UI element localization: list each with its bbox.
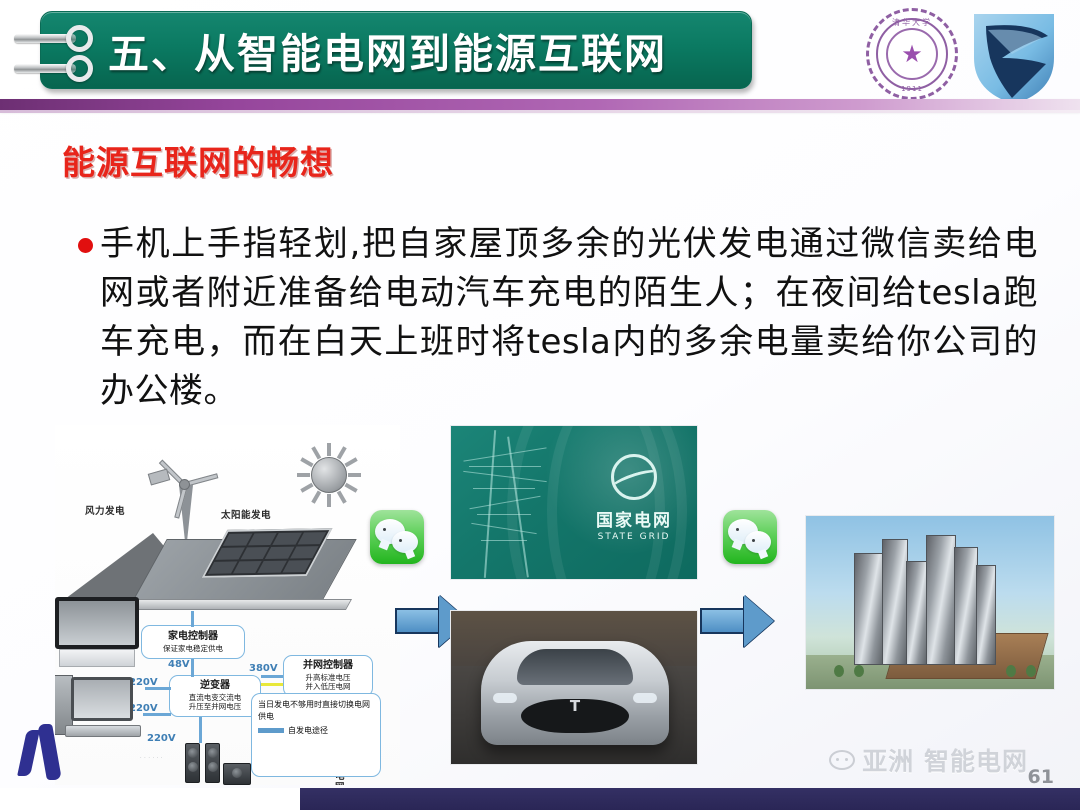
bullet-dot-icon (78, 238, 93, 253)
asia-smart-grid-logo-icon (22, 724, 68, 780)
bullet-block: 手机上手指轻划,把自家屋顶多余的光伏发电通过微信卖给电网或者附近准备给电动汽车充… (78, 220, 1038, 416)
tv-stand-icon (59, 649, 135, 667)
line-inverter-to-pc (143, 713, 171, 716)
schematic-legend: 当日发电不够用时直接切换电网供电 自发电途径 (251, 693, 381, 777)
line-inverter-to-gridtie (261, 675, 283, 678)
transmission-tower-icon (463, 430, 547, 578)
page-number: 61 (1028, 766, 1054, 788)
voltage-220v-audio: 220V (147, 733, 176, 744)
box-inverter: 逆变器 直流电变交流电 升压至并网电压 (169, 675, 261, 717)
tsinghua-university-seal-icon: 清华大学 ★ 1911 (866, 8, 958, 100)
slide-header: 五、从智能电网到能源互联网 清华大学 ★ 1911 (0, 0, 1080, 118)
wechat-icon-right (723, 510, 777, 564)
line-inverter-to-tv (145, 687, 171, 690)
line-controller-to-inverter (191, 659, 194, 677)
voltage-380v: 380V (249, 663, 278, 674)
footer-bar (0, 788, 1080, 810)
legend-blue-text: 自发电途径 (288, 725, 328, 737)
line-roof-to-controller (191, 611, 194, 627)
page-title: 五、从智能电网到能源互联网 (108, 11, 748, 89)
speaker-right-icon (205, 743, 220, 783)
blue-shield-logo-icon (968, 6, 1060, 106)
watermark-bubble-left-icon (829, 750, 855, 770)
pc-monitor-icon (71, 677, 133, 721)
figure-row: 风力发电 太阳能发电 家电控制器 保证家电稳定供电 逆变器 直流电变交流电 升压… (0, 415, 1080, 785)
television-icon (55, 597, 139, 649)
state-grid-orb-icon (611, 454, 657, 500)
seal-year-text: 1911 (866, 85, 958, 93)
binder-ring-bottom-icon (14, 55, 96, 82)
pc-keyboard-icon (65, 725, 141, 737)
box-appliance-controller: 家电控制器 保证家电稳定供电 (141, 625, 245, 659)
watermark: 亚洲 智能电网 (829, 742, 1028, 778)
seal-star-icon: ★ (901, 42, 923, 66)
box-grid-tie-controller: 并网控制器 升高标准电压 并入低压电网 (283, 655, 373, 697)
tesla-car-icon: T (481, 641, 669, 745)
subwoofer-icon (223, 763, 251, 785)
state-grid-photo: 国家电网 STATE GRID (450, 425, 698, 580)
section-subheading: 能源互联网的畅想 (62, 136, 334, 184)
schematic-caption: · · · · · · (140, 755, 163, 761)
flow-arrow-2-icon (700, 595, 778, 647)
slide-root: 五、从智能电网到能源互联网 清华大学 ★ 1911 能源互联网的畅想 (0, 0, 1080, 810)
binder-ring-top-icon (14, 25, 96, 52)
legend-blue-swatch (258, 728, 284, 733)
legend-yellow-text: 当日发电不够用时直接切换电网供电 (258, 699, 376, 722)
voltage-48v: 48V (168, 659, 190, 670)
bullet-paragraph: 手机上手指轻划,把自家屋顶多余的光伏发电通过微信卖给电网或者附近准备给电动汽车充… (100, 220, 1038, 416)
state-grid-logo: 国家电网 STATE GRID (591, 454, 677, 554)
seal-cn-text: 清华大学 (866, 17, 958, 28)
tesla-model-s-photo: T (450, 610, 698, 765)
wechat-icon-left (370, 510, 424, 564)
state-grid-cn: 国家电网 (591, 506, 677, 531)
header-accent-rule (0, 99, 1080, 110)
line-gridtie-backfeed (261, 683, 283, 686)
watermark-text: 亚洲 智能电网 (862, 742, 1028, 778)
line-inverter-to-audio (199, 717, 202, 743)
home-energy-schematic: 风力发电 太阳能发电 家电控制器 保证家电稳定供电 逆变器 直流电变交流电 升压… (55, 425, 400, 785)
office-tower-photo (805, 515, 1055, 690)
header-accent-rule-thin (0, 110, 1080, 113)
state-grid-en: STATE GRID (591, 532, 677, 542)
sun-icon (301, 447, 357, 503)
speaker-left-icon (185, 743, 200, 783)
